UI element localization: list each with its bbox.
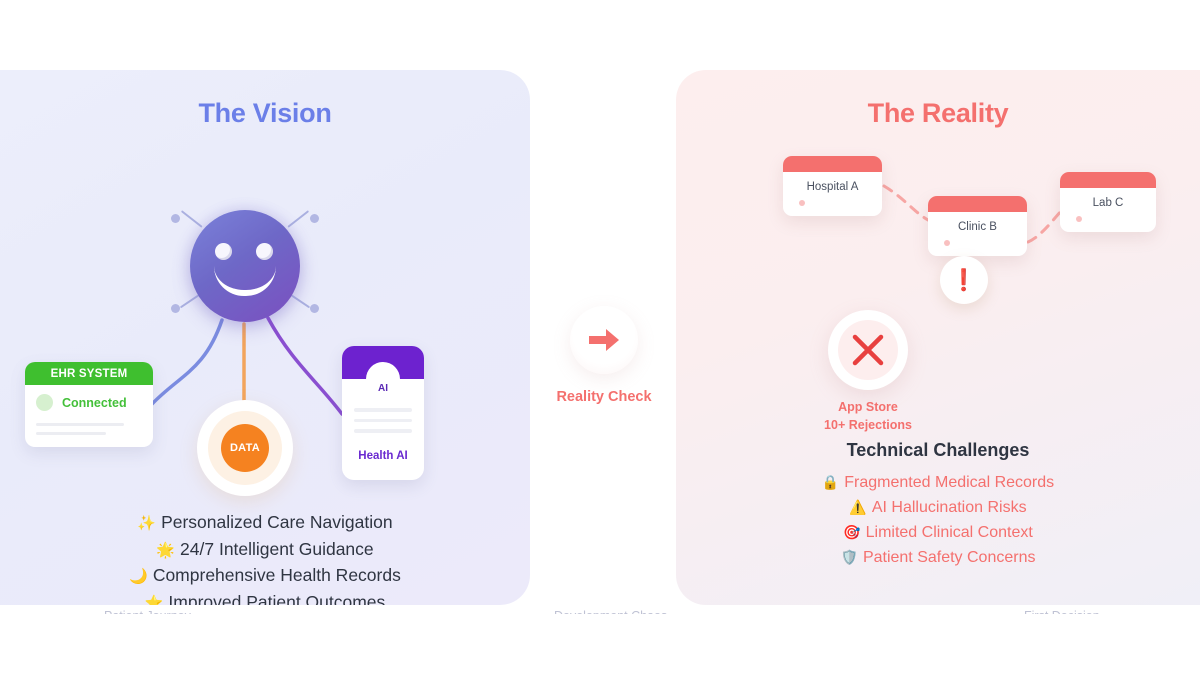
list-item: 🌟24/7 Intelligent Guidance	[0, 537, 530, 564]
ehr-status-label: Connected	[62, 396, 127, 410]
status-dot-icon	[36, 394, 53, 411]
facility-dot-icon	[944, 240, 950, 246]
rejection-count-label: 10+ Rejections	[790, 418, 946, 432]
ehr-status-row: Connected	[25, 385, 153, 411]
phone-header-bar	[342, 346, 424, 379]
challenges-heading: Technical Challenges	[676, 440, 1200, 461]
skeleton-line	[354, 419, 412, 423]
health-ai-phone-card[interactable]: AI Health AI	[342, 346, 424, 480]
facility-name: Lab C	[1060, 197, 1156, 209]
exclamation-mark-icon: ❗	[951, 270, 977, 291]
reality-check-label: Reality Check	[550, 389, 658, 405]
crescent-moon-icon: 🌙	[129, 568, 148, 585]
facility-dot-icon	[799, 200, 805, 206]
sparkles-icon: ✨	[137, 515, 156, 532]
card-header-bar	[783, 156, 882, 172]
vision-benefits-list: ✨Personalized Care Navigation 🌟24/7 Inte…	[0, 510, 530, 605]
shield-icon: 🛡️	[841, 549, 858, 565]
skeleton-line	[36, 432, 106, 435]
list-item: 🔒Fragmented Medical Records	[676, 470, 1200, 495]
benefit-label: 24/7 Intelligent Guidance	[180, 539, 374, 559]
data-core-label: DATA	[221, 424, 269, 472]
phone-ai-label: AI	[342, 383, 424, 394]
benefit-label: Personalized Care Navigation	[161, 512, 393, 532]
reality-title: The Reality	[676, 98, 1200, 129]
skeleton-line	[354, 429, 412, 433]
facility-card-hospital-a[interactable]: Hospital A	[783, 156, 882, 216]
facility-card-clinic-b[interactable]: Clinic B	[928, 196, 1027, 256]
benefit-label: Comprehensive Health Records	[153, 565, 401, 585]
footer-caption-right: First Decision	[1024, 609, 1100, 614]
card-header-bar	[1060, 172, 1156, 188]
list-item: 🎯Limited Clinical Context	[676, 520, 1200, 545]
target-icon: 🎯	[843, 524, 860, 540]
footer-caption-middle: Development Chaos	[554, 609, 667, 614]
challenge-label: AI Hallucination Risks	[872, 499, 1027, 516]
challenge-label: Patient Safety Concerns	[863, 549, 1036, 566]
list-item: ✨Personalized Care Navigation	[0, 510, 530, 537]
warning-triangle-icon: ⚠️	[849, 499, 866, 515]
benefit-label: Improved Patient Outcomes	[168, 592, 385, 606]
reality-check-circle	[570, 306, 638, 374]
reality-check-marker: Reality Check	[570, 306, 638, 405]
list-item: 🛡️Patient Safety Concerns	[676, 545, 1200, 570]
facility-dot-icon	[1076, 216, 1082, 222]
avatar-eye-right	[256, 243, 273, 260]
card-header-bar	[928, 196, 1027, 212]
rejection-circle	[828, 310, 908, 390]
list-item: ⭐Improved Patient Outcomes	[0, 590, 530, 606]
slide-canvas: The Vision	[0, 0, 1200, 675]
avatar-smile	[214, 266, 276, 296]
app-store-label: App Store	[790, 400, 946, 414]
avatar-face	[190, 210, 300, 322]
warning-badge: ❗	[940, 256, 988, 304]
skeleton-line	[354, 408, 412, 412]
footer-caption-left: Patient Journey	[104, 609, 191, 614]
x-mark-icon	[848, 330, 888, 370]
data-hub[interactable]: DATA	[197, 400, 293, 496]
arrow-right-icon	[587, 326, 621, 354]
list-item: 🌙Comprehensive Health Records	[0, 563, 530, 590]
vision-title: The Vision	[0, 98, 530, 129]
ehr-card-header: EHR SYSTEM	[25, 362, 153, 385]
lock-icon: 🔒	[822, 474, 839, 490]
facility-name: Clinic B	[928, 221, 1027, 233]
vision-panel: The Vision	[0, 70, 530, 605]
technical-challenges-section: Technical Challenges 🔒Fragmented Medical…	[676, 440, 1200, 570]
avatar-eye-left	[215, 243, 232, 260]
facility-card-lab-c[interactable]: Lab C	[1060, 172, 1156, 232]
ehr-system-card[interactable]: EHR SYSTEM Connected	[25, 362, 153, 447]
list-item: ⚠️AI Hallucination Risks	[676, 495, 1200, 520]
glowing-star-icon: 🌟	[156, 542, 175, 559]
challenge-label: Limited Clinical Context	[866, 524, 1033, 541]
skeleton-line	[36, 423, 124, 426]
ai-avatar	[190, 210, 300, 322]
app-store-rejections: App Store 10+ Rejections	[790, 310, 946, 432]
phone-health-ai-label: Health AI	[342, 450, 424, 462]
facility-name: Hospital A	[783, 181, 882, 193]
star-icon: ⭐	[145, 595, 164, 606]
challenge-label: Fragmented Medical Records	[844, 474, 1054, 491]
